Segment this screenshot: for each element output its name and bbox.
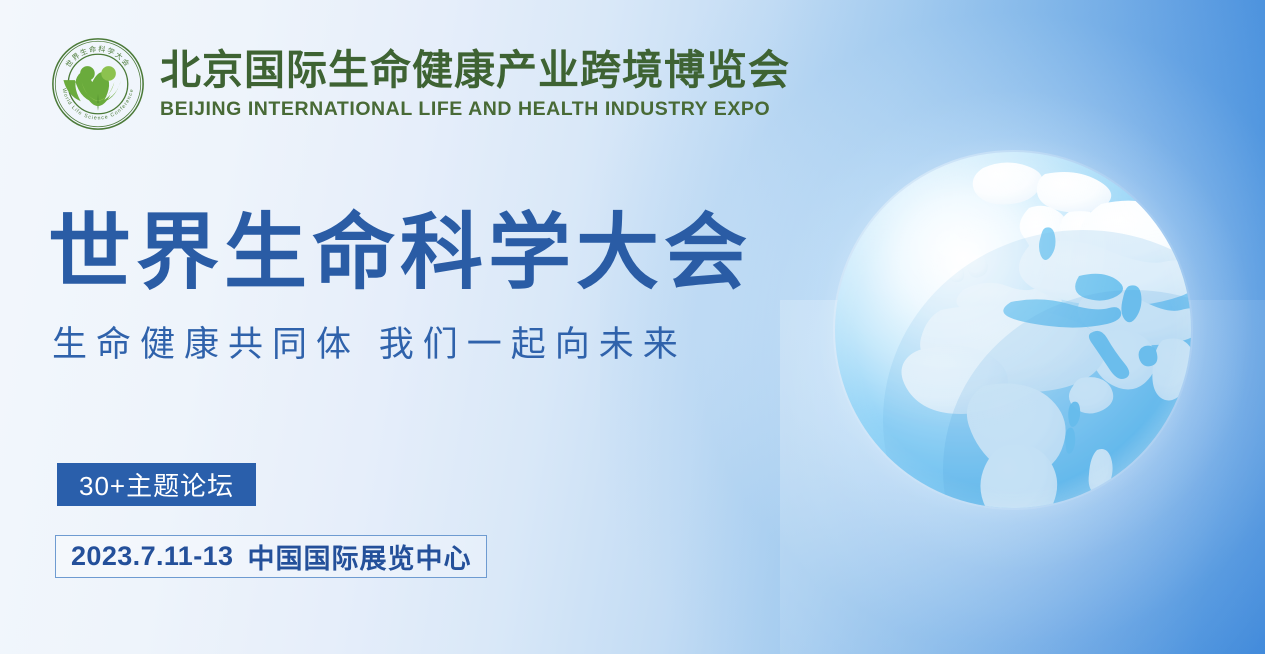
org-name-cn: 北京国际生命健康产业跨境博览会 <box>160 49 790 92</box>
event-banner: 世界生命科学大会 World Life Science Conference 北… <box>0 0 1265 654</box>
page-subtitle: 生命健康共同体 我们一起向未来 <box>52 324 687 366</box>
event-venue: 中国国际展览中心 <box>247 537 471 576</box>
date-venue-badge: 2023.7.11-13 中国国际展览中心 <box>55 535 487 578</box>
forum-count-badge: 30+主题论坛 <box>57 463 256 506</box>
event-date: 2023.7.11-13 <box>71 541 233 572</box>
globe-graphic <box>833 150 1193 510</box>
earth-globe-europe-africa-icon <box>833 150 1193 510</box>
header-lockup: 世界生命科学大会 World Life Science Conference 北… <box>50 36 790 132</box>
organization-names: 北京国际生命健康产业跨境博览会 BEIJING INTERNATIONAL LI… <box>160 49 790 120</box>
org-name-en: BEIJING INTERNATIONAL LIFE AND HEALTH IN… <box>160 98 790 121</box>
world-life-science-conference-logo-icon: 世界生命科学大会 World Life Science Conference <box>50 36 146 132</box>
page-title: 世界生命科学大会 <box>48 211 752 294</box>
